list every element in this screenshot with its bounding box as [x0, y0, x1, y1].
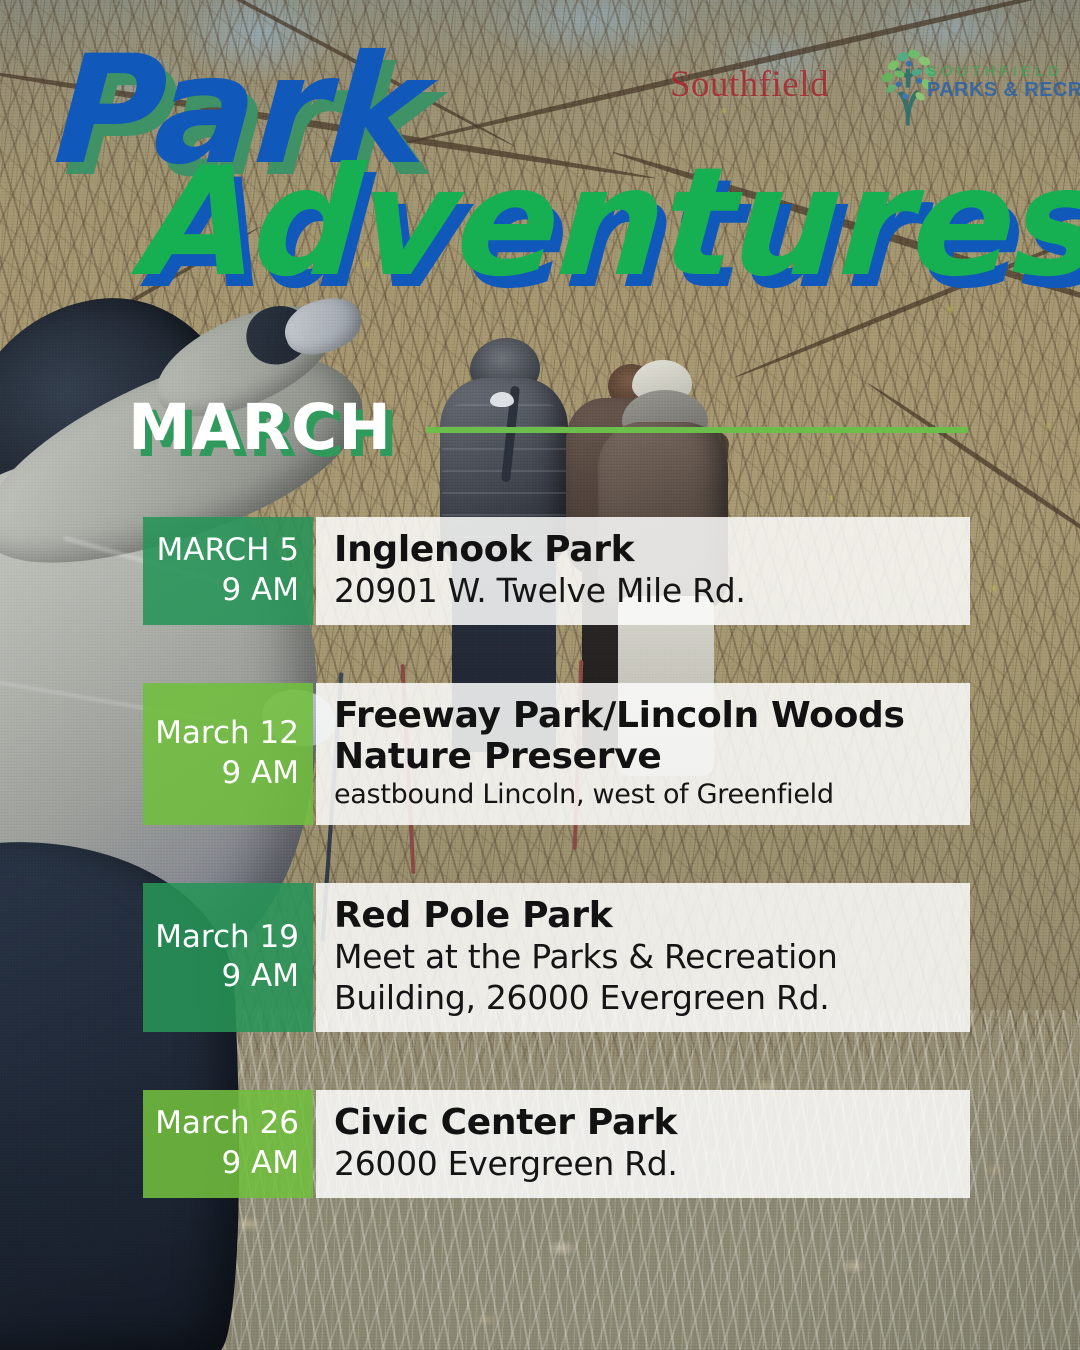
event-date: March 19	[153, 918, 299, 958]
event-location-name: Freeway Park/Lincoln Woods Nature Preser…	[334, 695, 950, 777]
event-date-badge: March 269 AM	[143, 1090, 313, 1198]
month-heading-row: MARCH MARCH	[128, 392, 968, 462]
event-date-badge: MARCH 59 AM	[143, 517, 313, 625]
event-date: March 12	[153, 714, 299, 754]
event-location-name: Inglenook Park	[334, 529, 950, 570]
event-time: 9 AM	[153, 571, 299, 611]
event-address: 26000 Evergreen Rd.	[334, 1145, 950, 1184]
event-info-panel: Red Pole ParkMeet at the Parks & Recreat…	[316, 883, 970, 1032]
event-time: 9 AM	[153, 754, 299, 794]
event-address: 20901 W. Twelve Mile Rd.	[334, 572, 950, 611]
event-location-name: Red Pole Park	[334, 895, 950, 936]
event-date-badge: March 199 AM	[143, 883, 313, 1032]
event-info-panel: Inglenook Park20901 W. Twelve Mile Rd.	[316, 517, 970, 625]
poster-content: Southfield	[0, 0, 1080, 1350]
event-schedule-list: MARCH 59 AMInglenook Park20901 W. Twelve…	[143, 517, 970, 1198]
event-date-badge: March 129 AM	[143, 683, 313, 825]
event-time: 9 AM	[153, 1144, 299, 1184]
month-divider-rule	[426, 427, 968, 433]
poster-title: Park Park Adventures Adventures	[56, 48, 1080, 286]
event-info-panel: Freeway Park/Lincoln Woods Nature Preser…	[316, 683, 970, 825]
event-address: eastbound Lincoln, west of Greenfield	[334, 779, 950, 811]
month-heading: MARCH MARCH	[128, 396, 392, 459]
event-date: March 26	[153, 1104, 299, 1144]
event-row[interactable]: March 199 AMRed Pole ParkMeet at the Par…	[143, 883, 970, 1032]
event-row[interactable]: March 269 AMCivic Center Park26000 Everg…	[143, 1090, 970, 1198]
poster-canvas: Southfield	[0, 0, 1080, 1350]
event-address: Meet at the Parks & Recreation	[334, 938, 950, 977]
event-time: 9 AM	[153, 957, 299, 997]
month-heading-text: MARCH	[128, 391, 392, 464]
title-adventures-text: Adventures	[140, 160, 1080, 286]
event-row[interactable]: MARCH 59 AMInglenook Park20901 W. Twelve…	[143, 517, 970, 625]
event-row[interactable]: March 129 AMFreeway Park/Lincoln Woods N…	[143, 683, 970, 825]
event-location-name: Civic Center Park	[334, 1102, 950, 1143]
event-date: MARCH 5	[153, 531, 299, 571]
event-info-panel: Civic Center Park26000 Evergreen Rd.	[316, 1090, 970, 1198]
title-line-adventures: Adventures Adventures	[144, 160, 1080, 286]
event-address-line-2: Building, 26000 Evergreen Rd.	[334, 979, 950, 1018]
